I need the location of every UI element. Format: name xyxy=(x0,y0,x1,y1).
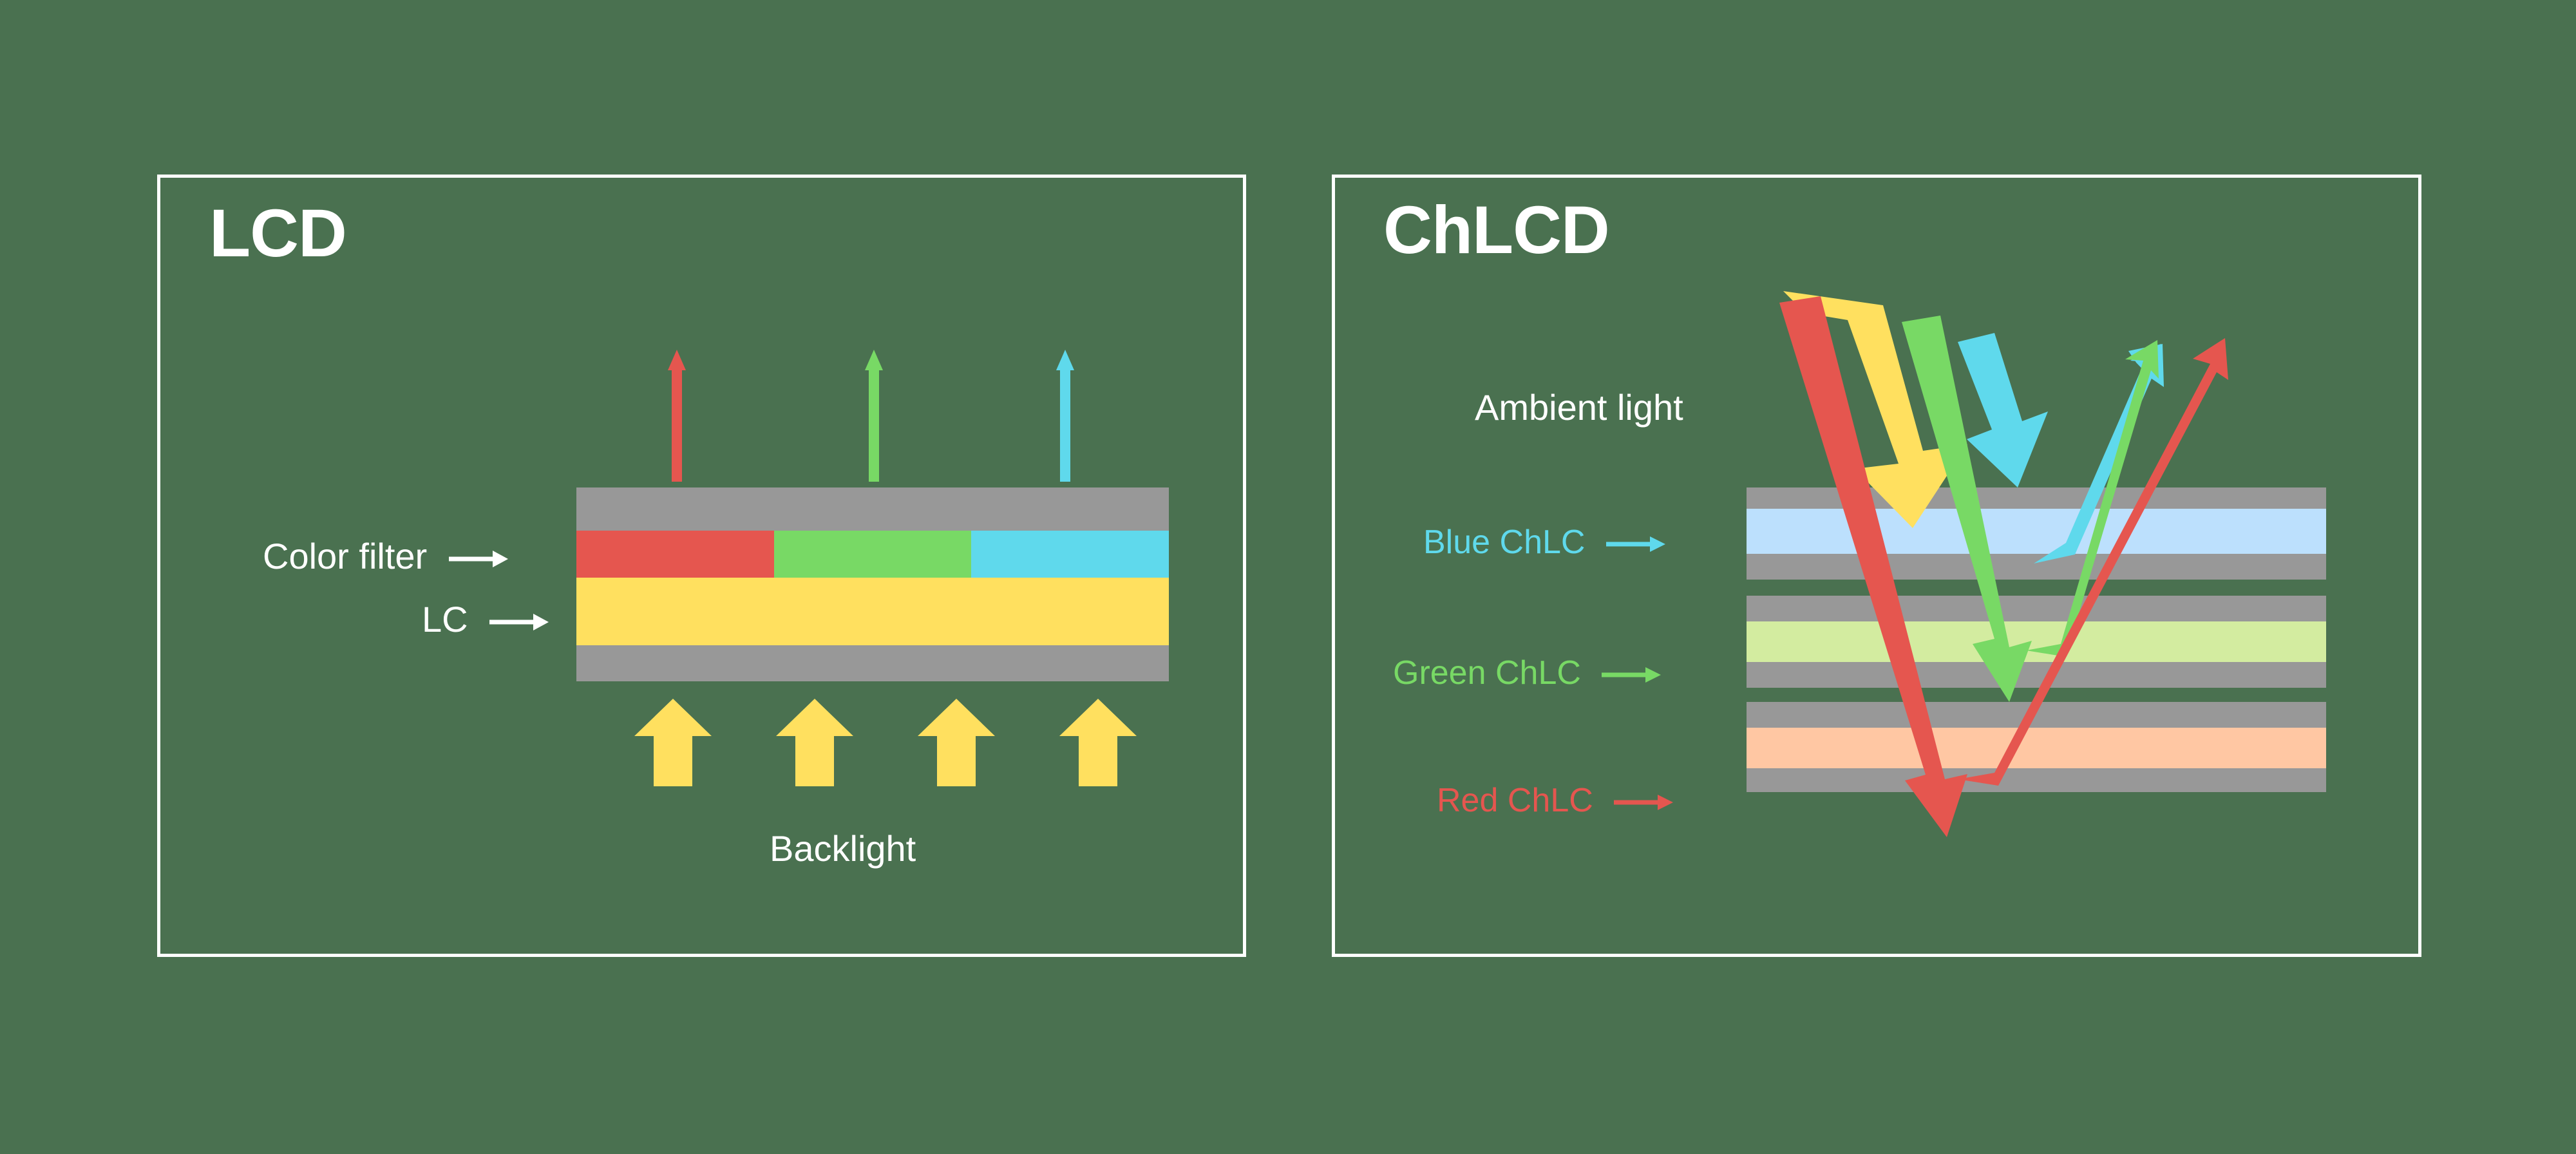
lc-callout: LC xyxy=(422,601,549,638)
electrode-layer xyxy=(1747,596,2326,621)
green-chlc-material xyxy=(1747,621,2326,662)
green-chlc-label-text: Green ChLC xyxy=(1393,654,1581,692)
arrow-shaft xyxy=(795,735,834,786)
electrode-layer xyxy=(1747,768,2326,792)
color-filter-green-cell xyxy=(774,531,972,578)
arrow-shaft xyxy=(869,368,879,482)
blue-chlc-group xyxy=(1747,487,2326,580)
electrode-layer xyxy=(1747,487,2326,509)
red-chlc-callout: Red ChLC xyxy=(1437,784,1673,817)
blue-chlc-callout: Blue ChLC xyxy=(1423,525,1665,559)
arrow-head xyxy=(634,699,712,736)
backlight-label: Backlight xyxy=(770,831,916,867)
arrow-shaft xyxy=(654,735,692,786)
electrode-layer xyxy=(1747,554,2326,580)
lcd-layer-stack xyxy=(576,487,1169,681)
diagram-canvas: LCD Color filter LC xyxy=(0,0,2576,1154)
blue-chlc-label-text: Blue ChLC xyxy=(1423,524,1585,561)
right-arrow-icon xyxy=(489,611,549,633)
blue-chlc-material xyxy=(1747,509,2326,554)
right-arrow-icon xyxy=(1602,665,1661,685)
electrode-layer xyxy=(1747,702,2326,728)
right-arrow-icon xyxy=(449,548,508,570)
arrow-shaft xyxy=(1060,368,1070,482)
lcd-panel-title: LCD xyxy=(209,200,346,267)
ambient-light-label: Ambient light xyxy=(1475,390,1683,426)
red-emitted-arrow xyxy=(668,350,686,482)
green-emitted-arrow xyxy=(865,350,883,482)
backlight-arrow xyxy=(918,699,995,786)
lc-label-text: LC xyxy=(422,599,468,639)
lcd-liquid-crystal-layer xyxy=(576,578,1169,645)
green-chlc-group xyxy=(1747,596,2326,688)
arrow-shaft xyxy=(937,735,976,786)
backlight-arrow xyxy=(776,699,853,786)
red-chlc-label-text: Red ChLC xyxy=(1437,782,1593,819)
red-chlc-material xyxy=(1747,728,2326,768)
color-filter-blue-cell xyxy=(971,531,1169,578)
electrode-layer xyxy=(1747,662,2326,688)
arrow-shaft xyxy=(672,368,682,482)
backlight-arrow xyxy=(1059,699,1137,786)
chlcd-layer-stack xyxy=(1747,487,2326,863)
arrow-shaft xyxy=(1079,735,1117,786)
arrow-head xyxy=(776,699,853,736)
color-filter-label-text: Color filter xyxy=(263,536,427,576)
backlight-arrow xyxy=(634,699,712,786)
color-filter-callout: Color filter xyxy=(263,538,508,574)
arrow-head xyxy=(918,699,995,736)
red-chlc-group xyxy=(1747,702,2326,794)
chlcd-panel-title: ChLCD xyxy=(1383,196,1609,264)
right-arrow-icon xyxy=(1606,534,1665,554)
lcd-glass-bottom-layer xyxy=(576,645,1169,681)
green-chlc-callout: Green ChLC xyxy=(1393,656,1661,690)
lcd-glass-top-layer xyxy=(576,487,1169,531)
color-filter-red-cell xyxy=(576,531,774,578)
blue-emitted-arrow xyxy=(1056,350,1074,482)
lcd-color-filter-layer xyxy=(576,531,1169,578)
right-arrow-icon xyxy=(1614,792,1673,813)
arrow-head xyxy=(1059,699,1137,736)
